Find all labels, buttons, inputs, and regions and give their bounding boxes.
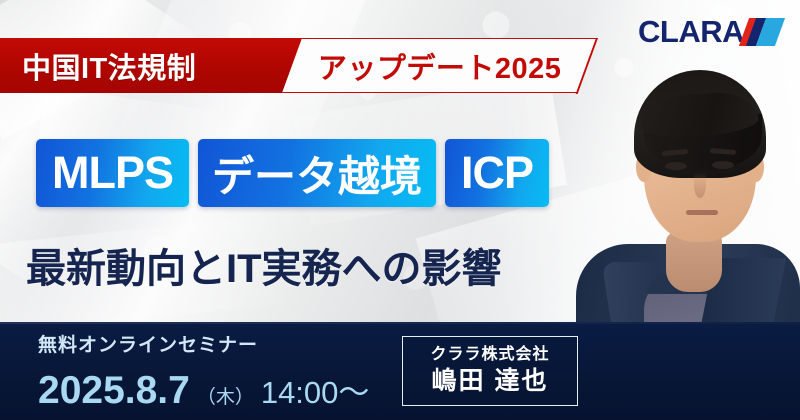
seminar-type-label: 無料オンラインセミナー	[38, 336, 369, 355]
event-date: 2025.8.7	[38, 371, 190, 410]
portrait-eye-right	[712, 161, 734, 169]
footer-event-info: 無料オンラインセミナー 2025.8.7 （木） 14:00〜	[38, 336, 369, 412]
ribbon-white-segment: アップデート2025	[282, 38, 598, 93]
clara-logo[interactable]: CLARA	[638, 16, 784, 47]
speaker-info-box: クララ株式会社 嶋田 達也	[402, 336, 578, 406]
speaker-company: クララ株式会社	[430, 346, 549, 364]
ribbon-red-segment: 中国IT法規制	[0, 38, 286, 93]
speaker-name: 嶋田 達也	[432, 367, 549, 396]
clara-logo-mark-icon	[742, 18, 784, 46]
webinar-banner: CLARA 中国IT法規制 アップデート2025 MLPS データ越境 ICP …	[0, 0, 800, 420]
badge-mlps: MLPS	[36, 139, 189, 207]
event-day-of-week: （木）	[197, 382, 254, 409]
ribbon-left-label: 中国IT法規制	[22, 45, 196, 87]
ribbon-right-label: アップデート2025	[318, 45, 562, 87]
portrait-nose	[694, 172, 706, 198]
topic-ribbon: 中国IT法規制 アップデート2025	[0, 38, 588, 93]
event-time: 14:00〜	[261, 367, 370, 412]
portrait-mouth	[686, 210, 718, 215]
badge-data-cross-border: データ越境	[198, 139, 436, 207]
badge-icp: ICP	[445, 139, 549, 207]
headline: 最新動向とIT実務への影響	[26, 236, 502, 294]
clara-logo-text: CLARA	[638, 16, 744, 47]
footer-bar: 無料オンラインセミナー 2025.8.7 （木） 14:00〜 クララ株式会社 …	[0, 322, 800, 420]
event-datetime: 2025.8.7 （木） 14:00〜	[38, 367, 369, 412]
portrait-eye-left	[665, 162, 687, 170]
keyword-badge-row: MLPS データ越境 ICP	[36, 139, 549, 207]
